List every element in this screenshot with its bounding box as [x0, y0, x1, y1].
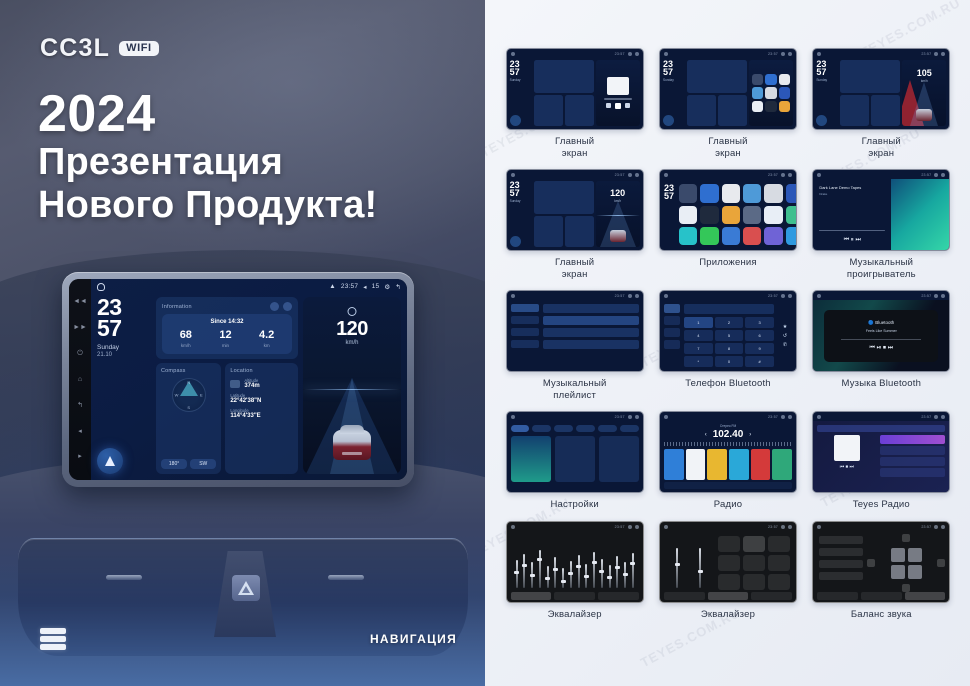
- thumbnail-status-text: 23:57: [768, 52, 778, 56]
- dialpad-key[interactable]: 5: [715, 330, 744, 341]
- expand-icon[interactable]: [283, 302, 292, 311]
- app-icon[interactable]: [786, 184, 797, 202]
- app-icon[interactable]: [722, 184, 740, 202]
- favorite-icon[interactable]: ★: [783, 324, 787, 330]
- hero-headline: 2024 Презентация Нового Продукта!: [38, 88, 468, 226]
- back-icon: [941, 415, 945, 419]
- equalizer-slider[interactable]: [624, 562, 626, 588]
- apps-grid: 23 57: [660, 179, 796, 250]
- more-tile[interactable]: [599, 436, 639, 482]
- thumbnail-caption: Главныйэкран: [659, 136, 797, 159]
- volume-up-key[interactable]: ▸: [78, 453, 82, 460]
- equalizer-slider[interactable]: [570, 561, 572, 588]
- equalizer-slider[interactable]: [539, 550, 541, 588]
- layers-icon: [40, 628, 66, 650]
- power-key[interactable]: ⏻: [77, 350, 83, 357]
- balance-left-button[interactable]: [867, 559, 875, 567]
- mini-clock: 23 57 Sunday: [816, 60, 838, 126]
- mini-home-layout: 23 57 Sunday 120 km/h: [507, 179, 643, 250]
- thumbnail-status-bar: 23:57: [507, 522, 643, 531]
- radio-preset[interactable]: [772, 449, 792, 480]
- gallery-item[interactable]: 23:57 🔵 Bluetooth Feels Like Summer ⏮ ⏯ …: [810, 290, 953, 401]
- compass-bearing-pill: 180°: [161, 459, 187, 469]
- radio-preset[interactable]: [686, 449, 706, 480]
- thumbnail-status-bar: 23:57: [660, 522, 796, 531]
- balance-up-button[interactable]: [902, 534, 910, 542]
- dialpad-key[interactable]: 0: [715, 356, 744, 367]
- mini-widgets: [534, 60, 594, 126]
- back-icon: [941, 294, 945, 298]
- equalizer-slider[interactable]: [585, 564, 587, 588]
- settings-icon: [781, 173, 785, 177]
- preset-tile[interactable]: [768, 555, 790, 571]
- mini-clock: 23 57 Sunday: [510, 60, 532, 126]
- location-title: Location: [230, 368, 293, 374]
- gallery-item[interactable]: 23:57 23 57 Sunday 105 km/h: [810, 48, 953, 159]
- mini-clock-day: Sunday: [510, 199, 532, 203]
- speaker-icon: [908, 548, 922, 562]
- dialpad-key[interactable]: 9: [745, 343, 774, 354]
- mini-location-card: [565, 95, 594, 126]
- equalizer-tab-balance[interactable]: [751, 592, 792, 600]
- back-icon[interactable]: ↰: [395, 283, 401, 291]
- equalizer-tab-eq[interactable]: [664, 592, 705, 600]
- thumbnail-status-text: 23:57: [921, 415, 931, 419]
- radio-preset[interactable]: [707, 449, 727, 480]
- settings-icon: [781, 415, 785, 419]
- screenshot-thumbnail[interactable]: 23:57 123456789*0# ★ ↺ ✆: [659, 290, 797, 372]
- information-widget[interactable]: Information Since 14:32: [156, 297, 298, 359]
- next-track-key[interactable]: ►►: [73, 324, 87, 331]
- screenshot-thumbnail[interactable]: 23:57 🔵 Bluetooth Feels Like Summer ⏮ ⏯ …: [812, 290, 950, 372]
- mini-clock: 23 57 Sunday: [663, 60, 685, 126]
- clock-column: 23 57 Sunday 21.10: [97, 297, 151, 474]
- head-unit-screen[interactable]: ▲ 23:57 ◂ 15 ⚙ ↰ 23 57 Sunday: [91, 279, 407, 480]
- settings-icon: [628, 173, 632, 177]
- thumbnail-status-text: 23:57: [615, 173, 625, 177]
- home-icon: [664, 525, 668, 529]
- dialpad-key[interactable]: #: [745, 356, 774, 367]
- back-icon: [788, 294, 792, 298]
- settings-tab[interactable]: [532, 425, 551, 432]
- equalizer-tab-eq[interactable]: [511, 592, 552, 600]
- dialpad-key[interactable]: 1: [684, 317, 713, 328]
- thumbnail-status-text: 23:57: [615, 294, 625, 298]
- wifi-tile[interactable]: [511, 436, 551, 482]
- teyes-radio-row[interactable]: [880, 446, 945, 455]
- headline-line-1: Презентация: [38, 141, 468, 184]
- driving-view-widget[interactable]: 120 km/h: [303, 297, 401, 474]
- app-icon[interactable]: [764, 184, 782, 202]
- teyes-radio-screen: ⏮ ⏹ ⏭: [813, 421, 949, 492]
- equalizer-tabs[interactable]: [817, 592, 945, 600]
- home-icon: [817, 294, 821, 298]
- home-icon: [817, 525, 821, 529]
- app-icon[interactable]: [743, 206, 761, 224]
- information-header: Information: [162, 302, 292, 311]
- thumbnail-status-bar: 23:57: [660, 291, 796, 300]
- equalizer-slider[interactable]: [547, 566, 549, 589]
- mini-widget-row: [534, 216, 594, 247]
- gallery-item[interactable]: 23:57 Эквалайзер: [656, 521, 799, 621]
- gallery-item[interactable]: 23:57 Эквалайзер: [503, 521, 646, 621]
- head-unit-hard-keys[interactable]: ◄◄ ►► ⏻ ⌂ ↰ ◂ ▸: [69, 279, 91, 480]
- teyes-radio-row[interactable]: [880, 468, 945, 477]
- thumbnail-caption: Музыкальныйплейлист: [506, 378, 644, 401]
- treble-slider[interactable]: [699, 548, 701, 589]
- equalizer-slider[interactable]: [609, 565, 611, 589]
- preset-tile[interactable]: [743, 555, 765, 571]
- app-icon[interactable]: [722, 227, 740, 245]
- thumbnail-caption: Баланс звука: [812, 609, 950, 621]
- radio-preset[interactable]: [664, 449, 684, 480]
- equalizer-slider[interactable]: [601, 559, 603, 588]
- preset-tile[interactable]: [768, 536, 790, 552]
- dialpad-key[interactable]: 3: [745, 317, 774, 328]
- balance-preset[interactable]: [819, 548, 863, 556]
- reset-icon[interactable]: [270, 302, 279, 311]
- compass-east-label: E: [200, 393, 203, 398]
- screenshot-gallery: 23:57 23 57 Sunday Главныйэкран: [503, 48, 953, 621]
- equalizer-slider[interactable]: [593, 552, 595, 588]
- mountain-icon: [230, 380, 240, 388]
- screenshot-thumbnail[interactable]: 23:57 ⏮ ⏹ ⏭: [812, 411, 950, 493]
- gallery-item[interactable]: 23:57 23 57 Sunday 120 km/h: [503, 169, 646, 280]
- gallery-item[interactable]: 23:57 ⏮ ⏹ ⏭ Teyes Радио: [810, 411, 953, 511]
- mini-widget-row: [840, 95, 900, 126]
- screenshot-thumbnail[interactable]: 23:57: [506, 290, 644, 372]
- home-icon: [664, 294, 668, 298]
- balance-right-button[interactable]: [937, 559, 945, 567]
- thumbnail-caption: Музыка Bluetooth: [812, 378, 950, 390]
- playlist-row[interactable]: [543, 304, 639, 313]
- balance-preset[interactable]: [819, 536, 863, 544]
- trip-since-label: Since 14:32: [166, 319, 288, 325]
- equalizer-slider[interactable]: [554, 557, 556, 588]
- settings-icon: [628, 525, 632, 529]
- speed-value: 120: [303, 318, 401, 341]
- preset-tile[interactable]: [743, 574, 765, 590]
- gallery-item[interactable]: 23:57 23 57 Sunday Главныйэкран: [503, 48, 646, 159]
- redial-icon[interactable]: ↺: [783, 333, 787, 339]
- mini-clock-day: Sunday: [663, 78, 685, 82]
- settings-icon: [934, 173, 938, 177]
- dialpad-key[interactable]: 7: [684, 343, 713, 354]
- app-icon[interactable]: [700, 206, 718, 224]
- screenshot-thumbnail[interactable]: 23:57: [812, 521, 950, 603]
- home-icon[interactable]: [97, 283, 105, 291]
- compass-west-label: W: [175, 393, 179, 398]
- app-icon[interactable]: [786, 227, 797, 245]
- settings-icon: [628, 52, 632, 56]
- balance-down-button[interactable]: [902, 584, 910, 592]
- preset-tile[interactable]: [743, 536, 765, 552]
- thumbnail-status-bar: 23:57: [813, 522, 949, 531]
- playlist-row[interactable]: [543, 340, 639, 349]
- compass-readouts: 180° SW: [161, 459, 216, 469]
- app-icon[interactable]: [700, 227, 718, 245]
- right-gallery-panel: TEYES.COM.RU TEYES.COM.RU TEYES.COM.RU T…: [485, 0, 970, 686]
- mini-widget-row: [534, 95, 594, 126]
- settings-tab[interactable]: [576, 425, 595, 432]
- app-icon[interactable]: [764, 206, 782, 224]
- preset-tile[interactable]: [718, 574, 740, 590]
- lower-widgets-row: Compass N S W E: [156, 363, 298, 474]
- compass-south-label: S: [187, 405, 190, 410]
- equalizer-slider[interactable]: [516, 560, 518, 588]
- gallery-item[interactable]: 23:57 Dark Lane Demo Tapes Drake ⏮ ⏸ ⏭ М…: [810, 169, 953, 280]
- playlist-row[interactable]: [543, 328, 639, 337]
- screenshot-thumbnail[interactable]: 23:57 Стерео FM ‹ 102.40 ›: [659, 411, 797, 493]
- settings-screen: [507, 421, 643, 492]
- gallery-item[interactable]: 23:57 23 57 Приложения: [656, 169, 799, 280]
- gallery-item[interactable]: 23:57 23 57 Sunday Главныйэкран: [656, 48, 799, 159]
- mini-compass-card: [534, 95, 563, 126]
- settings-tab[interactable]: [620, 425, 639, 432]
- speed-unit: km/h: [303, 340, 401, 346]
- back-icon: [941, 173, 945, 177]
- thumbnail-caption: Настройки: [506, 499, 644, 511]
- altitude-row: Altitude 374m: [230, 378, 293, 389]
- preset-tile[interactable]: [718, 555, 740, 571]
- app-icon[interactable]: [679, 184, 697, 202]
- thumbnail-status-text: 23:57: [615, 415, 625, 419]
- radio-preset[interactable]: [729, 449, 749, 480]
- stat-duration-value: 12: [219, 330, 231, 341]
- settings-icon[interactable]: ⚙: [384, 283, 390, 291]
- home-icon: [511, 52, 515, 56]
- equalizer-tab-balance[interactable]: [905, 592, 946, 600]
- prev-track-key[interactable]: ◄◄: [73, 298, 87, 305]
- settings-icon: [628, 415, 632, 419]
- compass-north-label: N: [187, 380, 190, 385]
- app-icon[interactable]: [764, 227, 782, 245]
- radio-preset[interactable]: [751, 449, 771, 480]
- headline-year: 2024: [38, 88, 468, 141]
- back-icon: [635, 52, 639, 56]
- gallery-item[interactable]: 23:57 123456789*0# ★ ↺ ✆ Телефон B: [656, 290, 799, 401]
- home-icon: [511, 525, 515, 529]
- screenshot-thumbnail[interactable]: 23:57 23 57: [659, 169, 797, 251]
- gallery-item[interactable]: 23:57 Стерео FM ‹ 102.40 › Радио: [656, 411, 799, 511]
- screenshot-thumbnail[interactable]: 23:57: [506, 521, 644, 603]
- compass-widget[interactable]: Compass N S W E: [156, 363, 221, 474]
- car-3d-model: [333, 430, 371, 460]
- dialpad-key[interactable]: 6: [745, 330, 774, 341]
- gallery-item[interactable]: 23:57 Настройки: [503, 411, 646, 511]
- thumbnail-caption: Приложения: [659, 257, 797, 269]
- home-screen-body: 23 57 Sunday 21.10 Information: [91, 294, 407, 480]
- settings-icon: [934, 525, 938, 529]
- home-icon: [511, 294, 515, 298]
- head-unit-inner: ◄◄ ►► ⏻ ⌂ ↰ ◂ ▸ ▲ 23:57: [69, 279, 407, 480]
- screenshot-thumbnail[interactable]: 23:57: [659, 521, 797, 603]
- balance-preset[interactable]: [819, 560, 863, 568]
- thumbnail-status-bar: 23:57: [813, 49, 949, 58]
- home-icon: [817, 173, 821, 177]
- clock-date: 21.10: [97, 352, 151, 358]
- player-track-title: Dark Lane Demo Tapes: [819, 185, 885, 190]
- navigation-label: НАВИГАЦИЯ: [370, 632, 457, 646]
- equalizer-slider[interactable]: [616, 556, 618, 588]
- app-icon[interactable]: [679, 206, 697, 224]
- gallery-item[interactable]: 23:57 Музыкальныйплейлист: [503, 290, 646, 401]
- layers-icon-top: [40, 628, 66, 634]
- back-icon: [788, 525, 792, 529]
- navigation-fab[interactable]: [97, 448, 123, 474]
- app-icon[interactable]: [722, 206, 740, 224]
- next-station-icon[interactable]: ›: [749, 432, 751, 438]
- screenshot-thumbnail[interactable]: 23:57 23 57 Sunday: [506, 48, 644, 130]
- hazard-button[interactable]: [232, 575, 260, 601]
- volume-down-key[interactable]: ◂: [78, 428, 82, 435]
- thumbnail-status-bar: 23:57: [813, 412, 949, 421]
- home-icon: [511, 415, 515, 419]
- preset-tile[interactable]: [718, 536, 740, 552]
- information-title: Information: [162, 304, 192, 310]
- call-icon[interactable]: ✆: [783, 342, 787, 348]
- latitude-value: 22°42'38"N: [230, 398, 293, 404]
- settings-icon: [781, 525, 785, 529]
- stat-speed-value: 68: [180, 330, 192, 341]
- stat-distance: 4.2 km: [259, 330, 274, 348]
- dialpad-key[interactable]: *: [684, 356, 713, 367]
- back-icon: [635, 173, 639, 177]
- car-interior-scene: ◄◄ ►► ⏻ ⌂ ↰ ◂ ▸ ▲ 23:57: [0, 250, 485, 686]
- thumbnail-status-text: 23:57: [615, 52, 625, 56]
- layers-icon-bottom: [40, 644, 66, 650]
- teyes-radio-row[interactable]: [880, 457, 945, 466]
- wallpaper-tile[interactable]: [555, 436, 595, 482]
- settings-tab[interactable]: [598, 425, 617, 432]
- mini-navigation-fab[interactable]: [510, 115, 521, 126]
- bluetooth-phone-screen: 123456789*0# ★ ↺ ✆: [660, 300, 796, 371]
- settings-icon: [934, 415, 938, 419]
- speaker-icon: [908, 565, 922, 579]
- dialpad-key[interactable]: 2: [715, 317, 744, 328]
- equalizer-tab-sound[interactable]: [708, 592, 749, 600]
- mini-right-pane: [596, 60, 640, 126]
- playlist-row[interactable]: [543, 316, 639, 325]
- screenshot-thumbnail[interactable]: 23:57 23 57 Sunday: [659, 48, 797, 130]
- equalizer-tab-eq[interactable]: [817, 592, 858, 600]
- thumbnail-status-text: 23:57: [921, 525, 931, 529]
- compass-direction-pill: SW: [190, 459, 216, 469]
- thumbnail-caption: Teyes Радио: [812, 499, 950, 511]
- teyes-radio-row[interactable]: [880, 435, 945, 444]
- thumbnail-status-text: 23:57: [615, 525, 625, 529]
- volume-icon[interactable]: ◂: [363, 283, 366, 291]
- equalizer-slider[interactable]: [562, 568, 564, 588]
- app-icon[interactable]: [743, 227, 761, 245]
- home-key[interactable]: ⌂: [78, 376, 82, 383]
- dialpad-key[interactable]: 4: [684, 330, 713, 341]
- information-actions: [270, 302, 292, 311]
- preset-tile[interactable]: [768, 574, 790, 590]
- headline-line-2: Нового Продукта!: [38, 184, 468, 227]
- back-icon: [788, 173, 792, 177]
- mini-home-layout: 23 57 Sunday: [507, 58, 643, 129]
- mini-navigation-fab[interactable]: [663, 115, 674, 126]
- equalizer-tab-sound[interactable]: [554, 592, 595, 600]
- speaker-icon: [891, 548, 905, 562]
- thumbnail-status-text: 23:57: [768, 415, 778, 419]
- mini-right-pane: 120 km/h: [596, 181, 640, 247]
- location-widget[interactable]: Location Altitude 374m: [225, 363, 298, 474]
- mini-clock-day: Sunday: [510, 78, 532, 82]
- mini-clock-minutes: 57: [663, 68, 685, 76]
- equalizer-tabs[interactable]: [664, 592, 792, 600]
- app-icon[interactable]: [743, 184, 761, 202]
- mini-home-layout: 23 57 Sunday 105 km/h: [813, 58, 949, 129]
- home-icon: [817, 52, 821, 56]
- back-key[interactable]: ↰: [77, 402, 83, 409]
- hazard-triangle-icon: [238, 581, 254, 595]
- mini-clock-minutes: 57: [816, 68, 838, 76]
- radio-screen: Стерео FM ‹ 102.40 ›: [660, 421, 796, 492]
- thumbnail-status-bar: 23:57: [507, 49, 643, 58]
- settings-icon: [628, 294, 632, 298]
- settings-tab[interactable]: [554, 425, 573, 432]
- equalizer-slider[interactable]: [531, 562, 533, 588]
- equalizer-tab-sound[interactable]: [861, 592, 902, 600]
- thumbnail-status-bar: 23:57: [507, 412, 643, 421]
- thumbnail-status-text: 23:57: [768, 173, 778, 177]
- vent-slot-left: [106, 575, 142, 580]
- balance-preset[interactable]: [819, 572, 863, 580]
- gallery-item[interactable]: 23:57 Баланс звука: [810, 521, 953, 621]
- mini-compass-card: [687, 95, 716, 126]
- mini-location-card: [565, 216, 594, 247]
- prev-station-icon[interactable]: ‹: [705, 432, 707, 438]
- longitude-block: Longitude 114°4'33"E: [230, 408, 293, 419]
- home-icon: [511, 173, 515, 177]
- stat-speed: 68 km/h: [180, 330, 192, 348]
- settings-tab[interactable]: [511, 425, 530, 432]
- stat-duration-unit: min: [219, 343, 231, 348]
- dialpad-key[interactable]: 8: [715, 343, 744, 354]
- screenshot-thumbnail[interactable]: 23:57 Dark Lane Demo Tapes Drake ⏮ ⏸ ⏭: [812, 169, 950, 251]
- app-icon[interactable]: [679, 227, 697, 245]
- mini-navigation-fab[interactable]: [510, 236, 521, 247]
- equalizer-slider[interactable]: [523, 554, 525, 588]
- mini-widgets: [687, 60, 747, 126]
- equalizer-slider[interactable]: [632, 553, 634, 588]
- presentation-slide: CC3L WIFI 2024 Презентация Нового Продук…: [0, 0, 970, 686]
- compass-dial: N S W E: [172, 378, 206, 412]
- status-volume: 15: [372, 283, 380, 290]
- screenshot-thumbnail[interactable]: 23:57: [506, 411, 644, 493]
- screenshot-thumbnail[interactable]: 23:57 23 57 Sunday 120 km/h: [506, 169, 644, 251]
- equalizer-tab-balance[interactable]: [598, 592, 639, 600]
- thumbnail-status-text: 23:57: [768, 525, 778, 529]
- thumbnail-status-text: 23:57: [921, 173, 931, 177]
- thumbnail-status-bar: 23:57: [507, 170, 643, 179]
- altitude-block: Altitude 374m: [244, 378, 259, 389]
- thumbnail-caption: Музыкальныйпроигрыватель: [812, 257, 950, 280]
- bass-slider[interactable]: [676, 548, 678, 589]
- vent-slot-right: [328, 575, 364, 580]
- app-icon[interactable]: [700, 184, 718, 202]
- screenshot-thumbnail[interactable]: 23:57 23 57 Sunday 105 km/h: [812, 48, 950, 130]
- app-icon[interactable]: [786, 206, 797, 224]
- mini-information-card: [534, 181, 594, 214]
- thumbnail-caption: Эквалайзер: [506, 609, 644, 621]
- mini-navigation-fab[interactable]: [816, 115, 827, 126]
- equalizer-slider[interactable]: [578, 555, 580, 588]
- equalizer-tabs[interactable]: [511, 592, 639, 600]
- status-time: 23:57: [341, 283, 358, 290]
